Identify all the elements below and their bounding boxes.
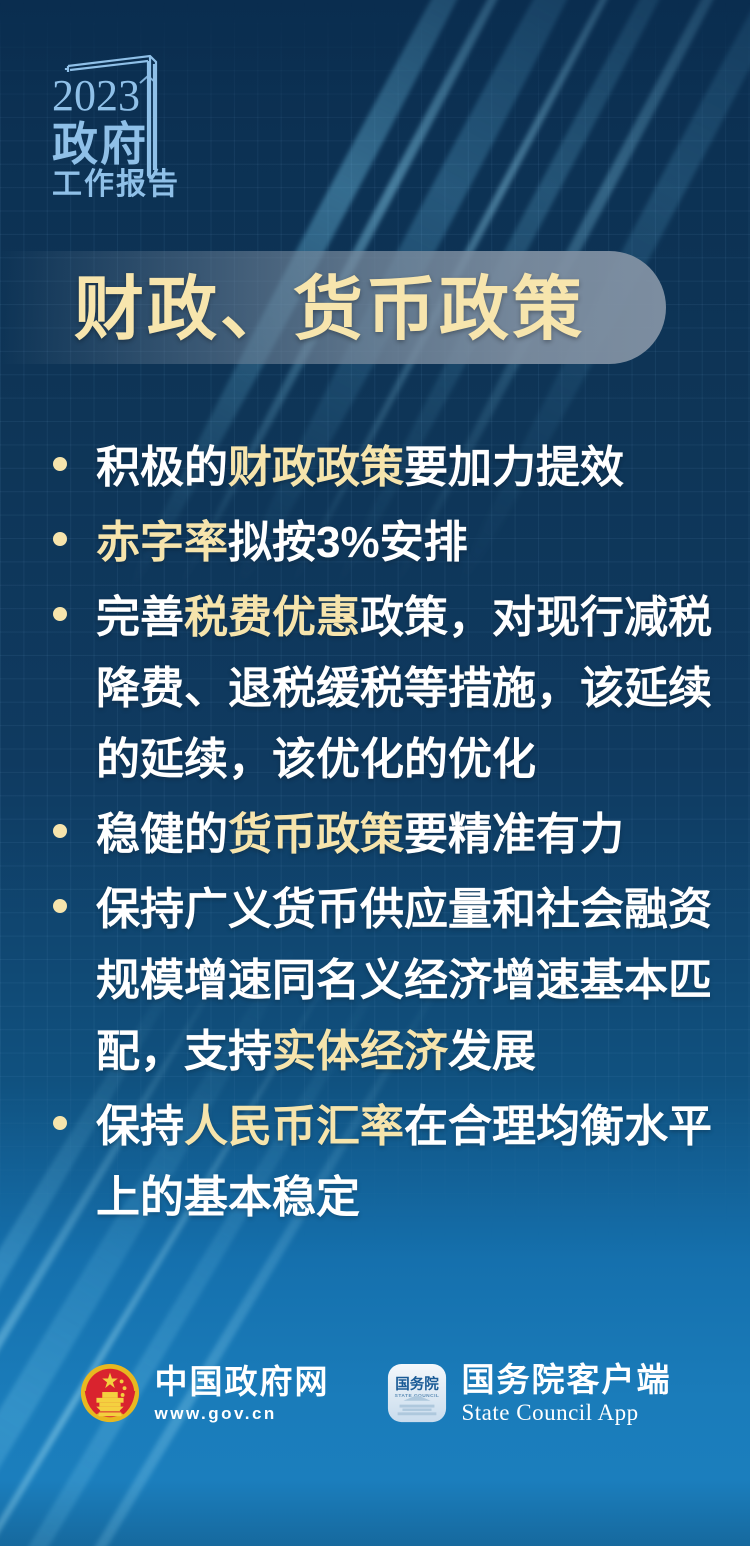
- footer-branding: 中国政府网 www.gov.cn 国务院 STATE COUNCIL: [0, 1362, 750, 1424]
- plain-text: 稳健的: [96, 810, 228, 859]
- bullet-dot-icon: [53, 532, 67, 546]
- policy-bullet-list: 积极的财政政策要加力提效赤字率拟按3%安排完善税费优惠政策，对现行减税降费、退税…: [40, 432, 730, 1237]
- plain-text: 发展: [448, 1027, 536, 1076]
- page-title: 财政、货币政策: [74, 254, 585, 364]
- plain-text: 拟按3%安排: [228, 518, 468, 567]
- state-council-app-icon: 国务院 STATE COUNCIL: [386, 1362, 448, 1424]
- list-item: 完善税费优惠政策，对现行减税降费、退税缓税等措施，该延续的延续，该优化的优化: [40, 582, 730, 795]
- list-item-text: 保持广义货币供应量和社会融资规模增速同名义经济增速基本匹配，支持实体经济发展: [96, 874, 730, 1087]
- highlighted-term: 人民币汇率: [184, 1102, 404, 1151]
- book-icon: 2023 政府 工作报告: [44, 48, 184, 198]
- report-logo: 2023 政府 工作报告: [44, 48, 184, 198]
- poster-root: 2023 政府 工作报告 财政、货币政策 积极的财政政策要加力提效赤字率拟按3%…: [0, 0, 750, 1546]
- brand-state-council-words: 国务院客户端 State Council App: [462, 1363, 672, 1424]
- national-emblem-icon: [79, 1362, 141, 1424]
- list-item-text: 保持人民币汇率在合理均衡水平上的基本稳定: [96, 1091, 730, 1233]
- brand-gov-cn-words: 中国政府网 www.gov.cn: [155, 1365, 330, 1422]
- highlighted-term: 赤字率: [96, 518, 228, 567]
- list-item: 赤字率拟按3%安排: [40, 507, 730, 578]
- plain-text: 要加力提效: [404, 443, 624, 492]
- list-item: 积极的财政政策要加力提效: [40, 432, 730, 503]
- highlighted-term: 实体经济: [272, 1027, 448, 1076]
- list-item-text: 稳健的货币政策要精准有力: [96, 799, 730, 870]
- list-item-text: 积极的财政政策要加力提效: [96, 432, 730, 503]
- list-item-text: 赤字率拟按3%安排: [96, 507, 730, 578]
- highlighted-term: 财政政策: [228, 443, 404, 492]
- bullet-dot-icon: [53, 824, 67, 838]
- brand-gov-cn-name: 中国政府网: [155, 1365, 330, 1398]
- plain-text: 要精准有力: [404, 810, 624, 859]
- list-item: 稳健的货币政策要精准有力: [40, 799, 730, 870]
- brand-state-council-name-en: State Council App: [462, 1401, 672, 1424]
- list-item: 保持人民币汇率在合理均衡水平上的基本稳定: [40, 1091, 730, 1233]
- svg-text:政府: 政府: [52, 118, 148, 170]
- bullet-dot-icon: [53, 1116, 67, 1130]
- plain-text: 积极的: [96, 443, 228, 492]
- brand-gov-cn-url: www.gov.cn: [155, 1405, 330, 1422]
- brand-gov-cn[interactable]: 中国政府网 www.gov.cn: [79, 1362, 330, 1424]
- highlighted-term: 货币政策: [228, 810, 404, 859]
- bullet-dot-icon: [53, 457, 67, 471]
- svg-text:工作报告: 工作报告: [52, 168, 180, 198]
- svg-text:国务院: 国务院: [395, 1375, 439, 1393]
- bullet-dot-icon: [53, 607, 67, 621]
- highlighted-term: 税费优惠: [184, 593, 360, 642]
- plain-text: 保持: [96, 1102, 184, 1151]
- list-item-text: 完善税费优惠政策，对现行减税降费、退税缓税等措施，该延续的延续，该优化的优化: [96, 582, 730, 795]
- light-streaks-top-right: [270, 0, 750, 440]
- brand-state-council-app[interactable]: 国务院 STATE COUNCIL 国务院客户端 State Council A…: [386, 1362, 672, 1424]
- svg-text:2023: 2023: [52, 71, 140, 120]
- bullet-dot-icon: [53, 899, 67, 913]
- plain-text: 完善: [96, 593, 184, 642]
- brand-state-council-name: 国务院客户端: [462, 1363, 672, 1396]
- list-item: 保持广义货币供应量和社会融资规模增速同名义经济增速基本匹配，支持实体经济发展: [40, 874, 730, 1087]
